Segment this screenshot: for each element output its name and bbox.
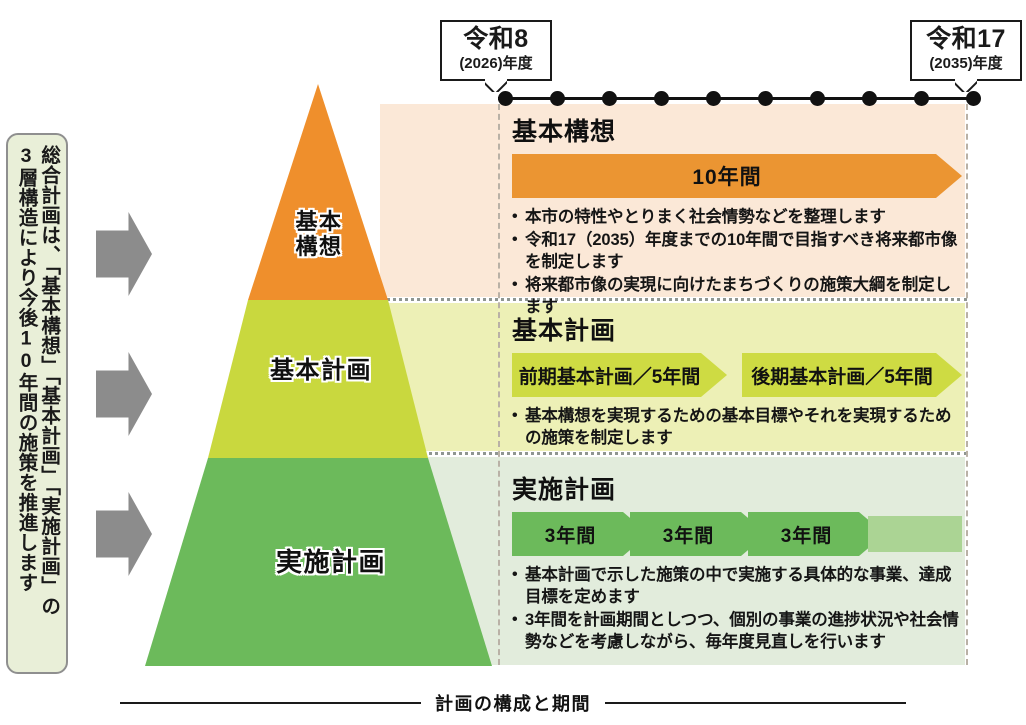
caption-rule-right xyxy=(605,702,906,704)
list-item: 基本構想を実現するための基本目標やそれを実現するための施策を制定します xyxy=(512,406,962,450)
panel-content-kihon-kouso: 基本構想 10年間 本市の特性やとりまく社会情勢などを整理します 令和17（20… xyxy=(512,112,962,320)
callout-end-western: (2035)年度 xyxy=(922,55,1010,73)
band-early-basic-plan: 前期基本計画／5年間 xyxy=(512,353,727,397)
timeline-dot xyxy=(498,91,513,106)
callout-end-tail xyxy=(955,79,977,92)
pyramid-label-jisshi-keikaku: 実施計画 xyxy=(236,548,426,577)
band-3-years-second: 3年間 xyxy=(630,512,767,556)
band-row-kihon-kouso: 10年間 xyxy=(512,154,962,198)
callout-start-western: (2026)年度 xyxy=(452,55,540,73)
band-late-basic-plan: 後期基本計画／5年間 xyxy=(742,353,962,397)
figure-caption: 計画の構成と期間 xyxy=(120,690,906,716)
timeline-dot xyxy=(914,91,929,106)
list-item: 本市の特性やとりまく社会情勢などを整理します xyxy=(512,207,962,229)
timeline-axis xyxy=(490,88,980,110)
bullet-list-jisshi-keikaku: 基本計画で示した施策の中で実施する具体的な事業、達成目標を定めます 3年間を計画… xyxy=(512,565,962,654)
panel-title-kihon-kouso: 基本構想 xyxy=(512,112,962,148)
band-3-years-third: 3年間 xyxy=(748,512,885,556)
panel-title-kihon-keikaku: 基本計画 xyxy=(512,311,962,347)
timeline-dot xyxy=(862,91,877,106)
band-row-jisshi-keikaku: 3年間 3年間 3年間 xyxy=(512,512,962,556)
band-3-years-first: 3年間 xyxy=(512,512,649,556)
timeline-dot xyxy=(810,91,825,106)
list-item: 基本計画で示した施策の中で実施する具体的な事業、達成目標を定めます xyxy=(512,565,962,609)
timeline-guide-end xyxy=(966,104,968,665)
timeline-dot xyxy=(966,91,981,106)
panel-content-kihon-keikaku: 基本計画 前期基本計画／5年間 後期基本計画／5年間 基本構想を実現するための基… xyxy=(512,311,962,451)
left-summary-line-2: 3層構造により今後10年間の施策を推進します xyxy=(15,145,36,593)
band-row-kihon-keikaku: 前期基本計画／5年間 後期基本計画／5年間 xyxy=(512,353,962,397)
callout-start-year: 令和8 (2026)年度 xyxy=(440,20,552,81)
timeline-guide-start xyxy=(498,104,500,665)
caption-text: 計画の構成と期間 xyxy=(435,690,591,716)
band-10-years: 10年間 xyxy=(512,154,962,198)
timeline-dot xyxy=(602,91,617,106)
timeline-dot xyxy=(706,91,721,106)
pyramid-tier-top xyxy=(248,84,388,300)
pyramid-label-kihon-kouso-line1: 基本 xyxy=(284,210,354,235)
panel-title-jisshi-keikaku: 実施計画 xyxy=(512,470,962,506)
callout-start-era: 令和8 xyxy=(452,26,540,54)
caption-rule-left xyxy=(120,702,421,704)
pyramid-label-kihon-kouso-line2: 構想 xyxy=(284,235,354,260)
list-item: 3年間を計画期間としつつ、個別の事業の進捗状況や社会情勢などを考慮しながら、毎年… xyxy=(512,610,962,654)
pyramid-label-kihon-keikaku: 基本計画 xyxy=(236,358,406,385)
bullet-list-kihon-keikaku: 基本構想を実現するための基本目標やそれを実現するための施策を制定します xyxy=(512,406,962,450)
panel-content-jisshi-keikaku: 実施計画 3年間 3年間 3年間 基本計画で示した施策の中で実施する具体的な事業… xyxy=(512,470,962,655)
band-3-years-continuation xyxy=(868,516,962,552)
left-summary-panel: 総合計画は、「基本構想」「基本計画」「実施計画」の 3層構造により今後10年間の… xyxy=(6,133,68,674)
timeline-dot xyxy=(550,91,565,106)
left-summary-line-1: 総合計画は、「基本構想」「基本計画」「実施計画」の xyxy=(38,145,59,616)
bullet-list-kihon-kouso: 本市の特性やとりまく社会情勢などを整理します 令和17（2035）年度までの10… xyxy=(512,207,962,319)
diagram-canvas: 総合計画は、「基本構想」「基本計画」「実施計画」の 3層構造により今後10年間の… xyxy=(0,0,1026,725)
callout-end-year: 令和17 (2035)年度 xyxy=(910,20,1022,81)
timeline-line xyxy=(498,97,968,100)
pyramid-label-kihon-kouso: 基本 構想 xyxy=(284,210,354,259)
callout-end-era: 令和17 xyxy=(922,26,1010,54)
list-item: 令和17（2035）年度までの10年間で目指すべき将来都市像を制定します xyxy=(512,230,962,274)
timeline-dot xyxy=(758,91,773,106)
timeline-dot xyxy=(654,91,669,106)
callout-start-tail xyxy=(485,79,507,92)
